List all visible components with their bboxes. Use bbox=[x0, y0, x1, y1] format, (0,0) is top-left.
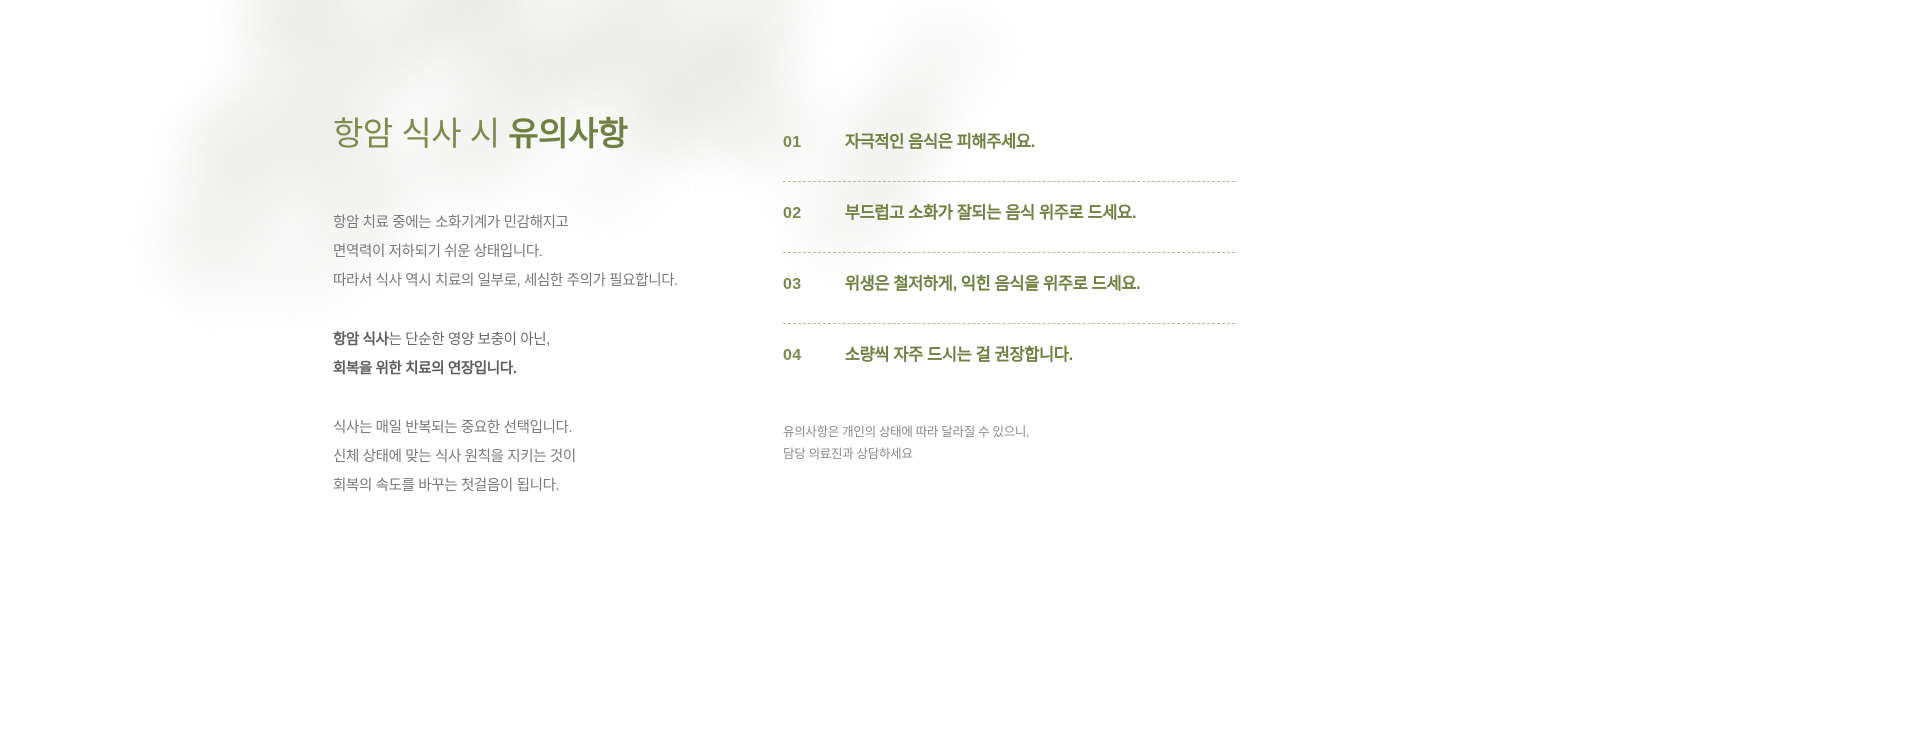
precaution-list: 01 자극적인 음식은 피해주세요. 02 부드럽고 소화가 잘되는 음식 위주… bbox=[783, 128, 1243, 465]
list-item-number: 02 bbox=[783, 205, 845, 223]
emphasis-line-1-rest: 는 단순한 영양 보충이 아닌, bbox=[389, 332, 550, 348]
list-item-number: 01 bbox=[783, 134, 845, 152]
left-content-column: 항암 식사 시 유의사항 항암 치료 중에는 소화기계가 민감해지고 면역력이 … bbox=[333, 112, 733, 501]
closing-paragraph: 식사는 매일 반복되는 중요한 선택입니다. 신체 상태에 맞는 식사 원칙을 … bbox=[333, 414, 733, 501]
emphasis-line-2: 회복을 위한 치료의 연장입니다. bbox=[333, 361, 517, 377]
closing-line-2: 신체 상태에 맞는 식사 원칙을 지키는 것이 bbox=[333, 449, 576, 465]
page-title-bold-part: 유의사항 bbox=[508, 115, 627, 152]
list-item-number: 04 bbox=[783, 347, 845, 365]
list-item: 04 소량씩 자주 드시는 걸 권장합니다. bbox=[783, 341, 1243, 377]
lead-paragraph: 항암 치료 중에는 소화기계가 민감해지고 면역력이 저하되기 쉬운 상태입니다… bbox=[333, 209, 733, 296]
lead-line-2: 면역력이 저하되기 쉬운 상태입니다. bbox=[333, 244, 543, 260]
emphasis-paragraph: 항암 식사는 단순한 영양 보충이 아닌, 회복을 위한 치료의 연장입니다. bbox=[333, 326, 733, 384]
list-item: 01 자극적인 음식은 피해주세요. bbox=[783, 128, 1243, 164]
list-divider bbox=[783, 181, 1235, 182]
list-item-label: 자극적인 음식은 피해주세요. bbox=[845, 128, 1035, 152]
list-item: 03 위생은 철저하게, 익힌 음식을 위주로 드세요. bbox=[783, 270, 1243, 306]
page-title-light-part: 항암 식사 시 bbox=[333, 115, 508, 152]
emphasis-line-1-bold: 항암 식사 bbox=[333, 332, 389, 348]
footnote: 유의사항은 개인의 상태에 따라 달라질 수 있으니, 담당 의료진과 상담하세… bbox=[783, 421, 1243, 465]
list-item-label: 소량씩 자주 드시는 걸 권장합니다. bbox=[845, 341, 1073, 365]
list-item-label: 부드럽고 소화가 잘되는 음식 위주로 드세요. bbox=[845, 199, 1136, 223]
list-item-label: 위생은 철저하게, 익힌 음식을 위주로 드세요. bbox=[845, 270, 1140, 294]
closing-line-3: 회복의 속도를 바꾸는 첫걸음이 됩니다. bbox=[333, 478, 559, 494]
list-item: 02 부드럽고 소화가 잘되는 음식 위주로 드세요. bbox=[783, 199, 1243, 235]
lead-line-1: 항암 치료 중에는 소화기계가 민감해지고 bbox=[333, 215, 569, 231]
page-title: 항암 식사 시 유의사항 bbox=[333, 112, 733, 157]
list-item-number: 03 bbox=[783, 276, 845, 294]
infographic-page: 항암 식사 시 유의사항 항암 치료 중에는 소화기계가 민감해지고 면역력이 … bbox=[0, 0, 1920, 750]
closing-line-1: 식사는 매일 반복되는 중요한 선택입니다. bbox=[333, 420, 572, 436]
list-divider bbox=[783, 323, 1235, 324]
footnote-line-1: 유의사항은 개인의 상태에 따라 달라질 수 있으니, bbox=[783, 425, 1029, 439]
footnote-line-2: 담당 의료진과 상담하세요 bbox=[783, 447, 913, 461]
list-divider bbox=[783, 252, 1235, 253]
lead-line-3: 따라서 식사 역시 치료의 일부로, 세심한 주의가 필요합니다. bbox=[333, 273, 678, 289]
